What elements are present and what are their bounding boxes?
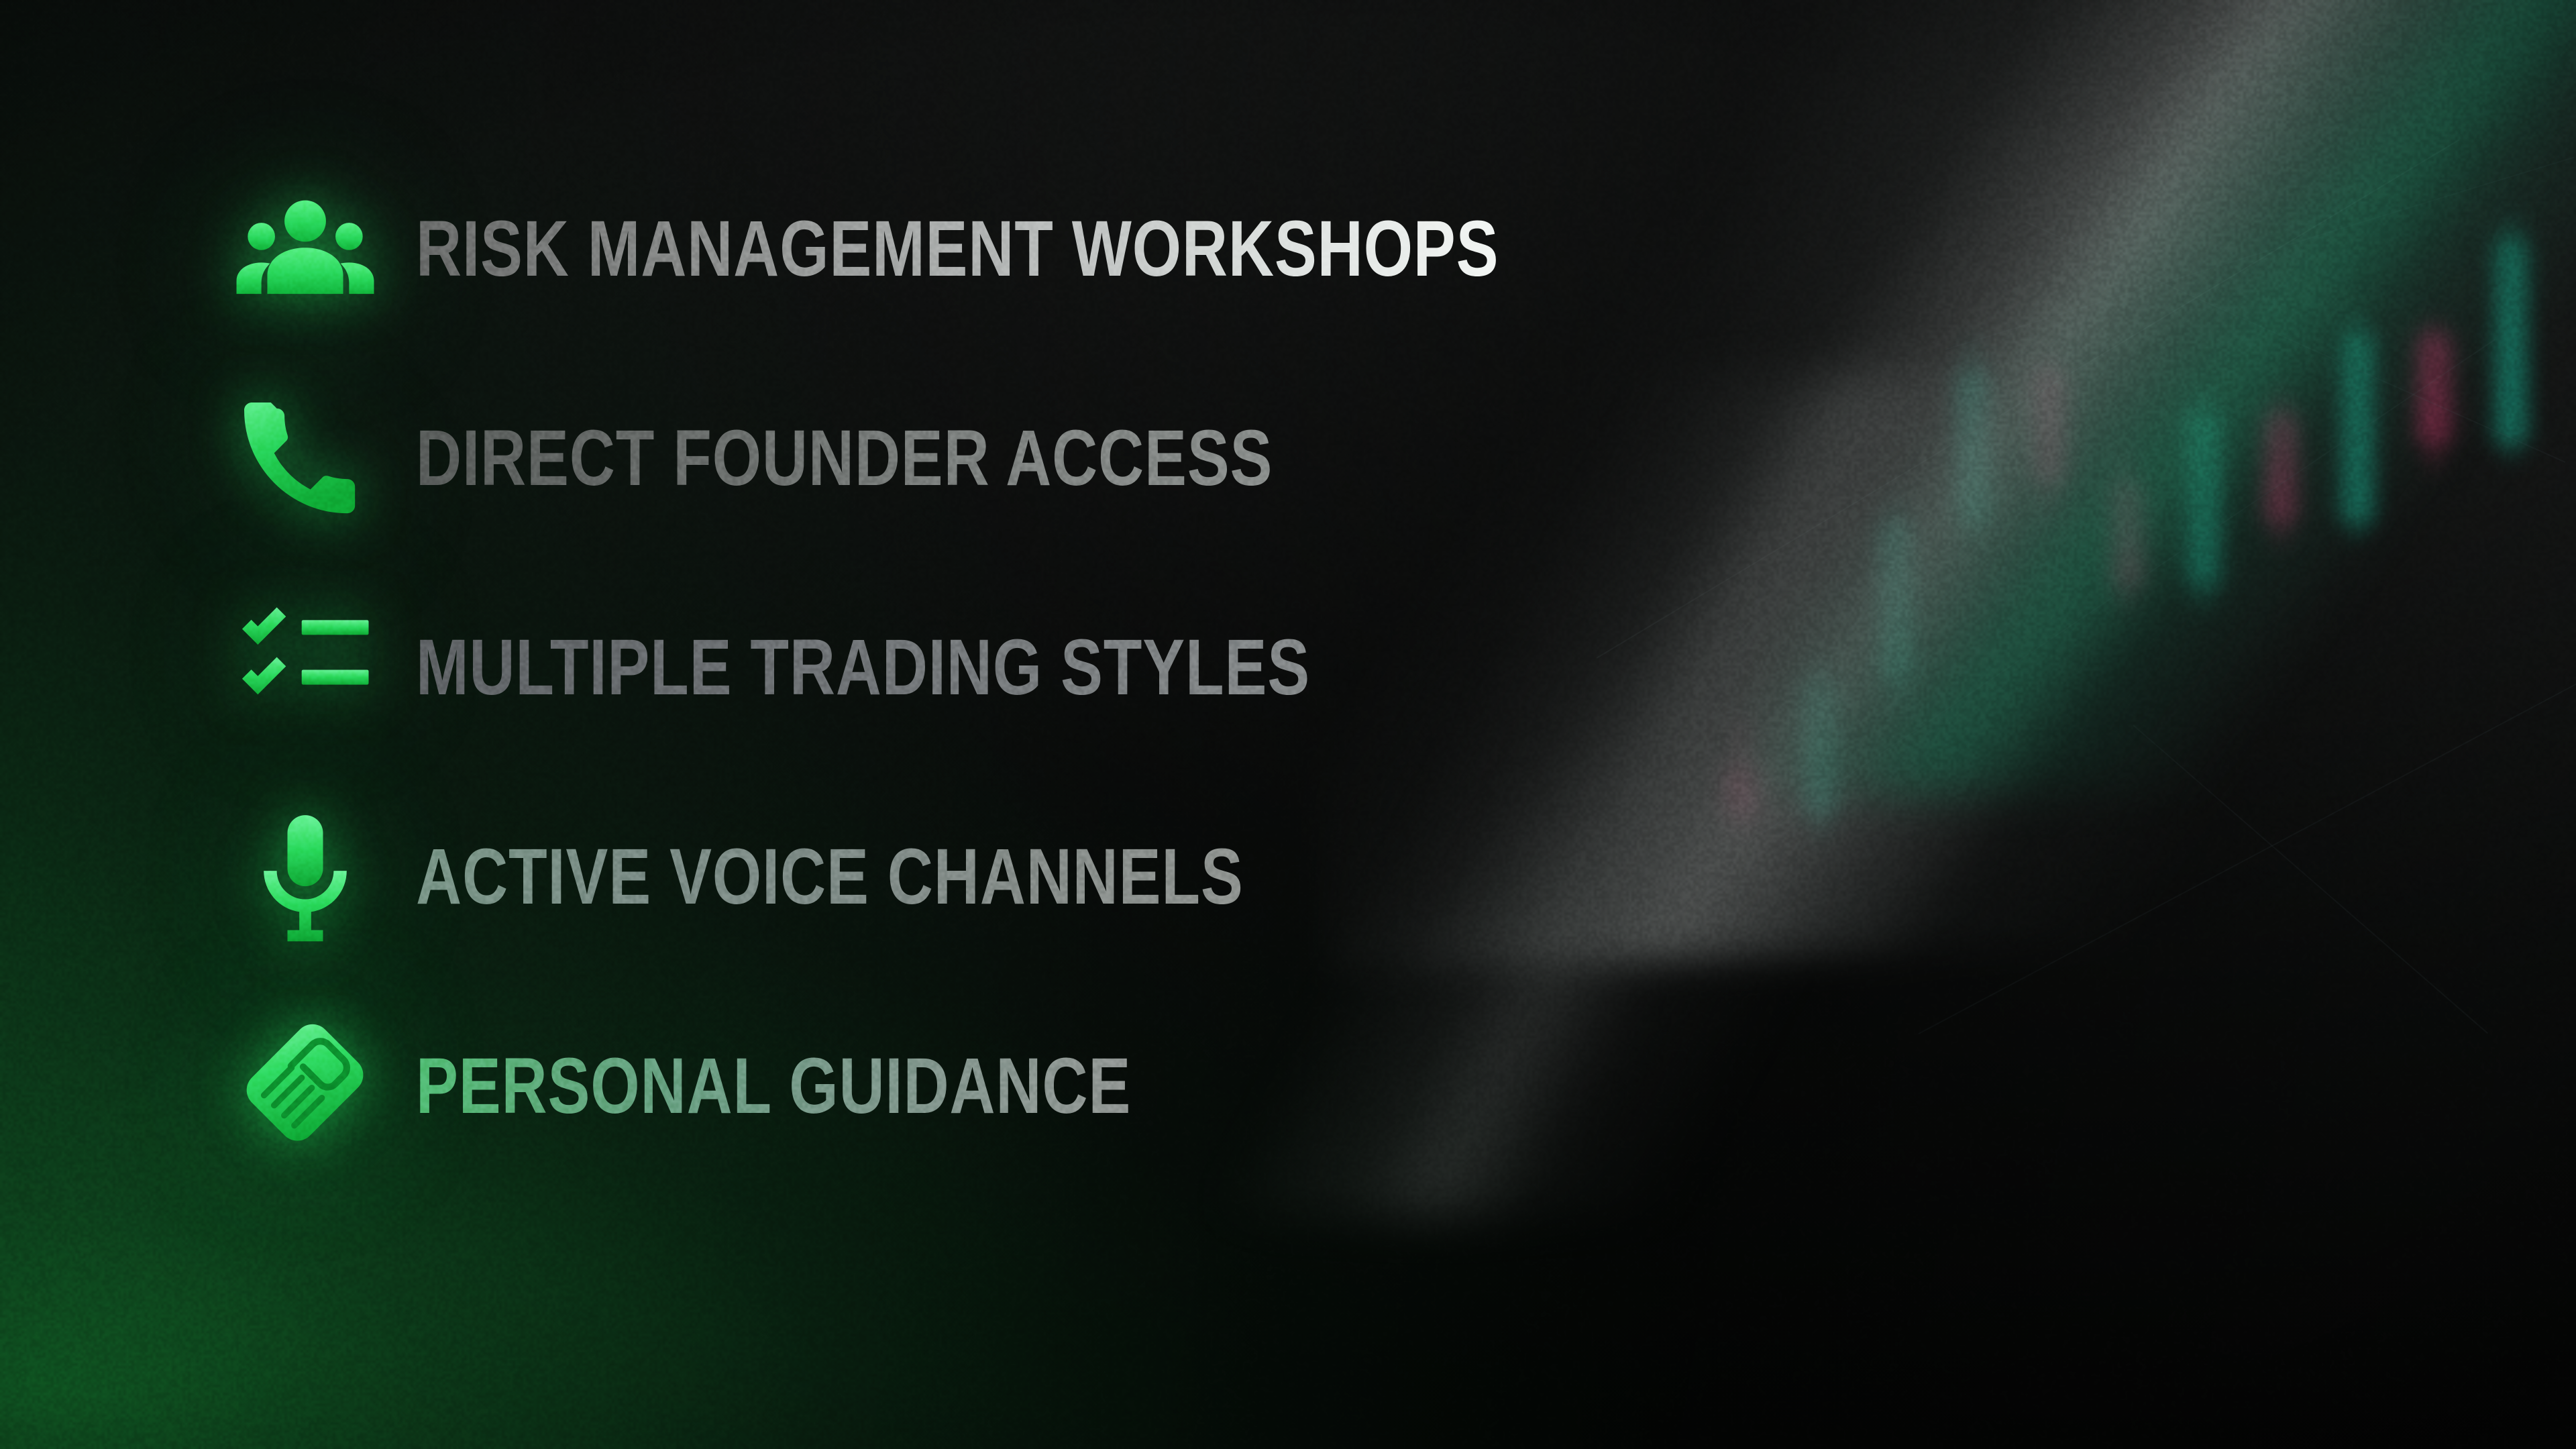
promo-banner: RISK MANAGEMENT WORKSHOPS DIRECT FOUNDER… — [0, 0, 2576, 1449]
film-grain-overlay — [0, 0, 2576, 1449]
